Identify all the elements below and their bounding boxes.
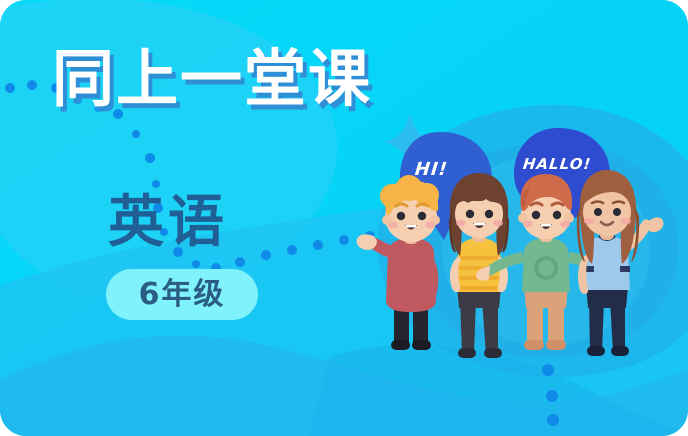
speech-bubble-hi-label: HI! — [414, 159, 449, 180]
course-banner-card: 同上一堂课 英语 6年级 — [0, 0, 688, 436]
speech-bubble-hallo-label: HALLO! — [522, 155, 592, 173]
character-girl-brown-long-waving — [577, 170, 664, 356]
characters-illustration — [0, 0, 688, 436]
character-boy-blonde-waving — [357, 175, 440, 350]
